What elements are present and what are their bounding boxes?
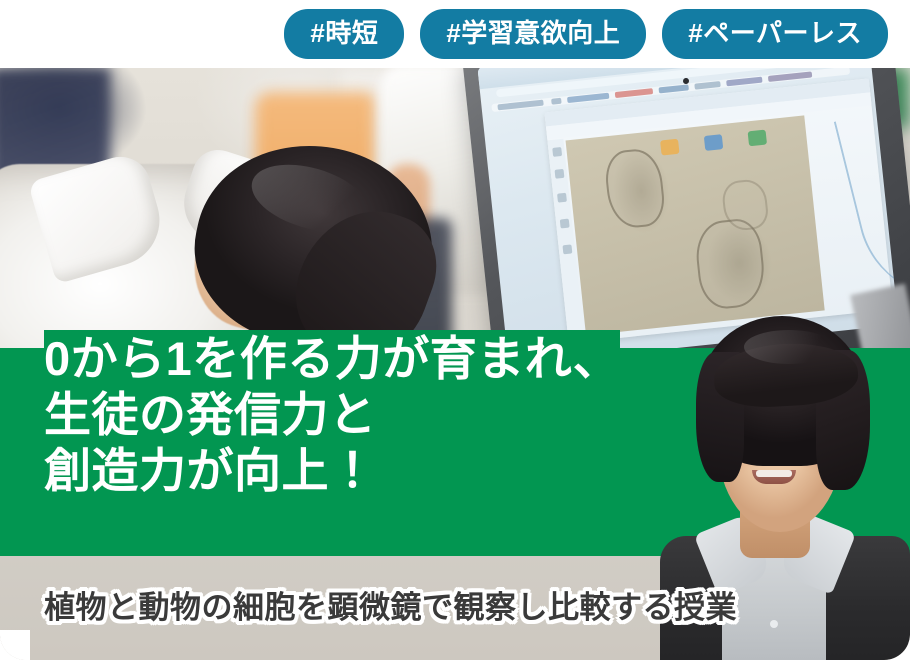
photo-caption: 植物と動物の細胞を顕微鏡で観察し比較する授業 <box>44 582 737 627</box>
file-icon <box>704 134 723 151</box>
headline-line-1: 0から1を作る力が育まれ、 <box>44 331 684 387</box>
sidebar-icon <box>560 219 570 229</box>
file-icon <box>748 130 767 147</box>
teacher-shirt-button <box>770 620 778 628</box>
bookmark-item <box>551 98 562 105</box>
sidebar-icon <box>562 244 572 254</box>
headline-line-2: 生徒の発信力と <box>44 387 684 443</box>
hashtag-list: #時短 #学習意欲向上 #ペーパーレス <box>0 0 910 68</box>
hashtag-pill-paperless[interactable]: #ペーパーレス <box>662 9 888 59</box>
case-study-card: 0から1を作る力が育まれ、 生徒の発信力と 創造力が向上！ 植物と動物の細胞を顕… <box>0 0 910 660</box>
headline-line-3: 創造力が向上！ <box>44 443 684 499</box>
sidebar-icon <box>552 147 562 157</box>
teacher-teeth <box>756 470 792 477</box>
teacher-hair-highlight <box>744 330 834 364</box>
cell-outline <box>603 147 667 230</box>
sidebar-icon <box>555 169 565 179</box>
sidebar-icon <box>557 193 567 203</box>
hashtag-pill-motivation[interactable]: #学習意欲向上 <box>420 9 646 59</box>
cell-outline <box>693 217 768 311</box>
file-icon <box>660 139 679 156</box>
hashtag-pill-jitan[interactable]: #時短 <box>284 9 404 59</box>
headline: 0から1を作る力が育まれ、 生徒の発信力と 創造力が向上！ <box>44 331 684 499</box>
